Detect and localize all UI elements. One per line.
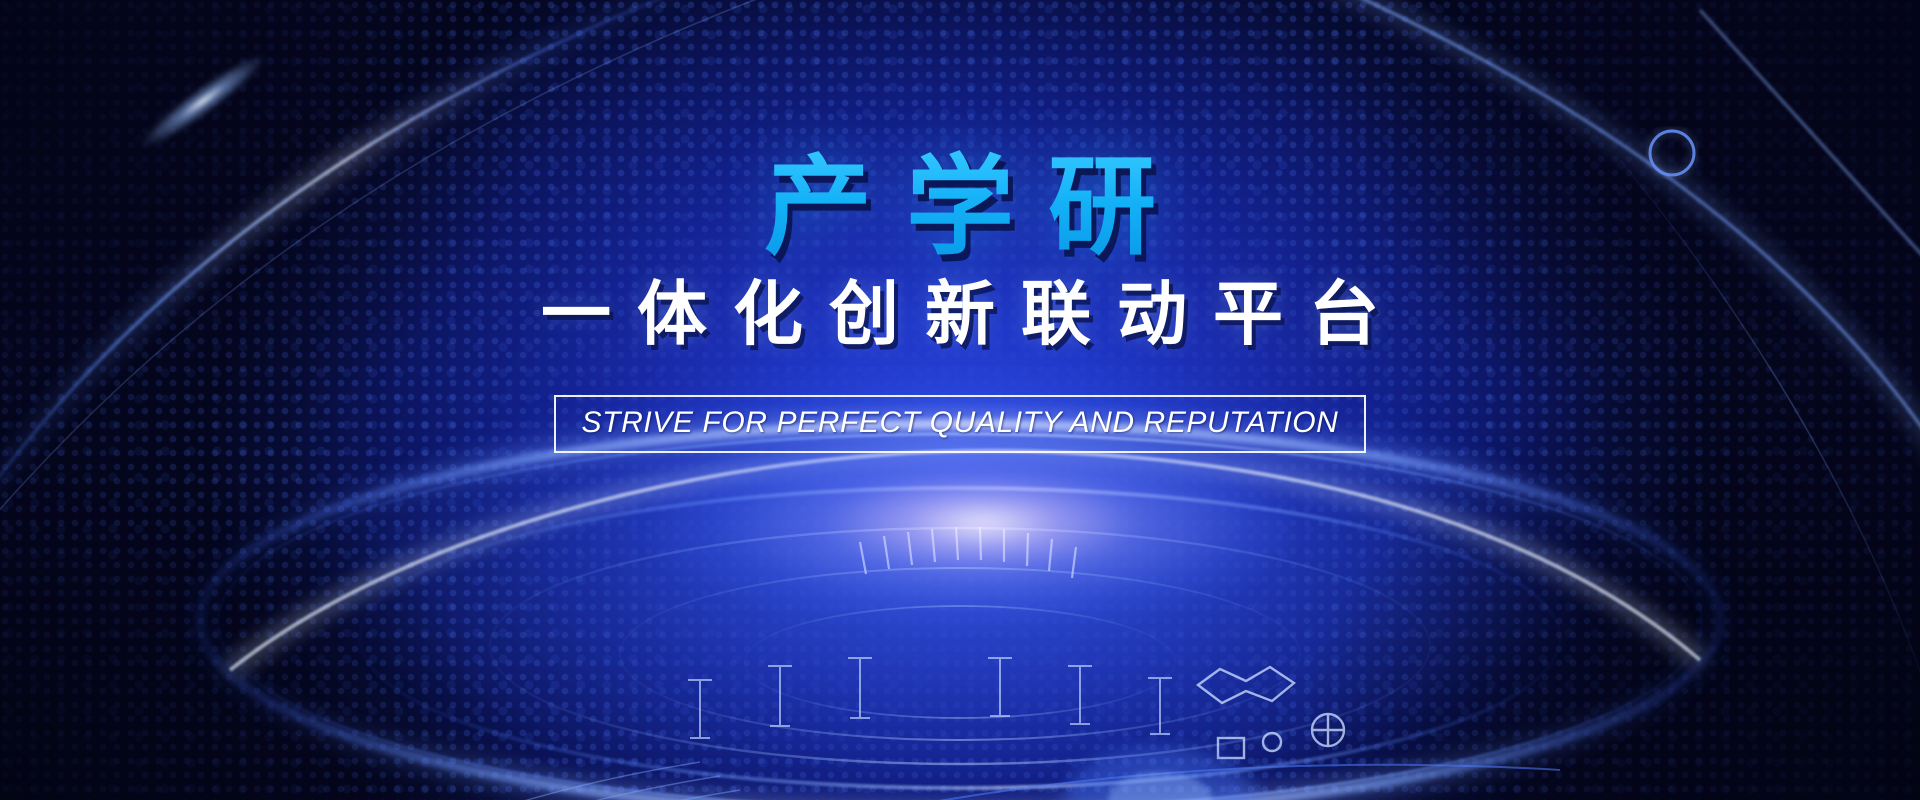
page-subtitle: 一体化创新联动平台	[515, 276, 1405, 353]
hero-text-block: 产学研 一体化创新联动平台 STRIVE FOR PERFECT QUALITY…	[0, 0, 1920, 800]
english-tagline: STRIVE FOR PERFECT QUALITY AND REPUTATIO…	[582, 406, 1339, 440]
page-title: 产学研	[730, 150, 1190, 264]
tagline-frame: STRIVE FOR PERFECT QUALITY AND REPUTATIO…	[554, 395, 1367, 453]
banner-hero: 产学研 一体化创新联动平台 STRIVE FOR PERFECT QUALITY…	[0, 0, 1920, 800]
